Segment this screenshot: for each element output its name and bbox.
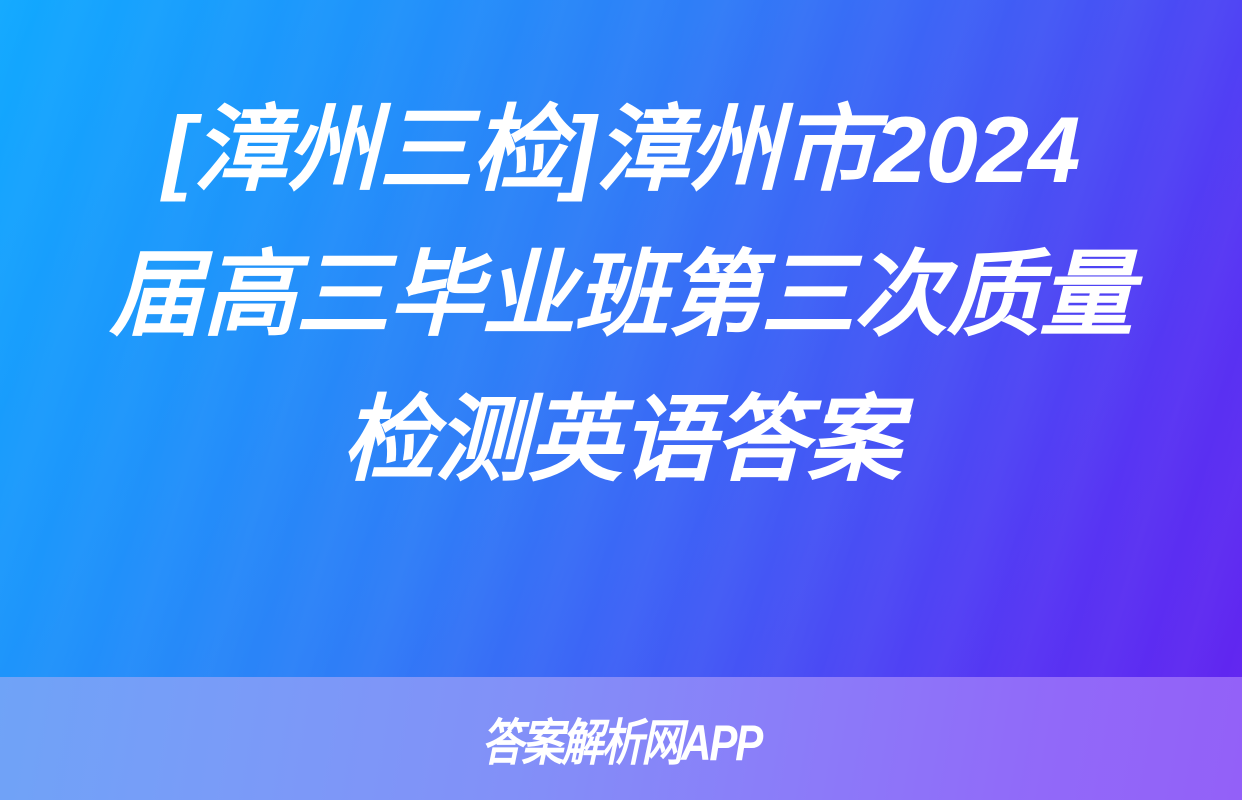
footer-watermark-band: 答案解析网APP <box>0 677 1242 800</box>
page-title: [漳州三检]漳州市2024 届高三毕业班第三次质量 检测英语答案 <box>0 0 1242 677</box>
title-line-1: [漳州三检]漳州市2024 <box>163 77 1080 222</box>
poster-container: [漳州三检]漳州市2024 届高三毕业班第三次质量 检测英语答案 答案解析网AP… <box>0 0 1242 800</box>
app-watermark-label: 答案解析网APP <box>481 718 761 768</box>
title-line-3: 检测英语答案 <box>342 367 900 512</box>
title-line-2: 届高三毕业班第三次质量 <box>109 222 1132 367</box>
